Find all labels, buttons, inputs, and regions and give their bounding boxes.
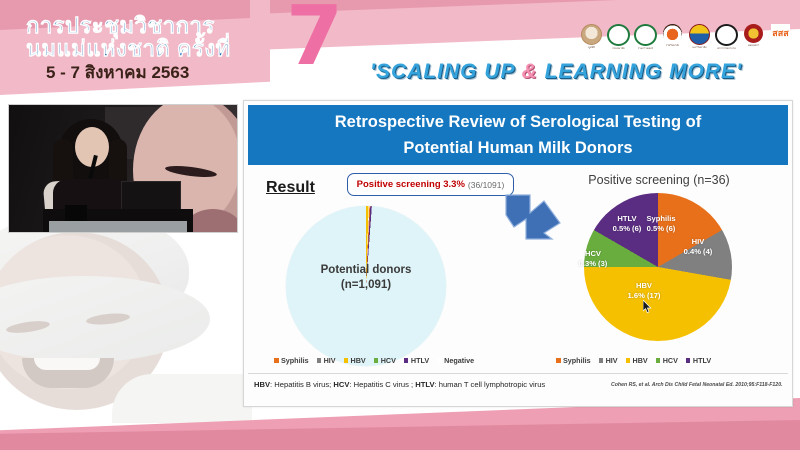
result-heading: Result: [266, 179, 315, 197]
logo-ministry-health-1-icon: กรมอนามัย: [607, 24, 630, 50]
pie-slice-label-hiv: HIV 0.4% (4): [678, 237, 718, 256]
legend-item-htlv: HTLV: [686, 356, 711, 365]
slide-title: Retrospective Review of Serological Test…: [248, 105, 788, 165]
blue-arrow-icon: [504, 193, 562, 241]
legend-label-hcv: HCV: [381, 356, 396, 365]
legend-item-hcv: HCV: [374, 356, 396, 365]
footnote-hcv-key: HCV: [333, 380, 349, 389]
presenter-video-thumbnail[interactable]: [8, 104, 238, 233]
child-body: [112, 374, 252, 423]
logo-mark: [663, 24, 682, 43]
logo-mark: [607, 24, 630, 46]
logo-nursing-council-icon: สภาการพยาบาล: [715, 24, 738, 50]
legend-swatch-htlv: [404, 358, 409, 363]
potential-donors-title: Potential donors: [286, 263, 446, 278]
legend-item-hcv: HCV: [656, 356, 678, 365]
footnote-divider: [248, 373, 788, 374]
logo-thaihealth-icon: สสส: [769, 24, 792, 50]
positive-screening-pie-title: Positive screening (n=36): [544, 173, 774, 187]
legend-label-negative: Negative: [444, 356, 474, 365]
legend-item-hiv: HIV: [599, 356, 618, 365]
logo-mark: [634, 24, 657, 46]
legend-label-syphilis: Syphilis: [563, 356, 591, 365]
slice-name-htlv: HTLV: [606, 214, 648, 224]
legend-swatch-hiv: [317, 358, 322, 363]
logo-mark: [744, 24, 763, 43]
logo-university-icon: มหาวิทยาลัย: [688, 24, 711, 50]
logo-ministry-health-2-icon: กรมการแพทย์: [634, 24, 657, 50]
legend-swatch-hcv: [374, 358, 379, 363]
callout-main-text: Positive screening 3.3%: [357, 179, 465, 190]
legend-label-hiv: HIV: [324, 356, 336, 365]
legend-item-negative: Negative: [437, 356, 474, 365]
slice-name-hiv: HIV: [678, 237, 718, 247]
logo-mark: [581, 24, 602, 45]
legend-swatch-syphilis: [274, 358, 279, 363]
legend-swatch-hbv: [344, 358, 349, 363]
logo-royal-college-icon: ราชวิทยาลัย: [661, 24, 684, 50]
tagline-part2: LEARNING MORE': [538, 60, 742, 83]
slice-value-hbv: 1.6% (17): [620, 291, 668, 301]
logo-caption: มูลนิธิ: [588, 46, 595, 49]
slice-name-hcv: HCV: [574, 249, 612, 259]
screenshot-stage: การประชุมวิชาการ นมแม่แห่งชาติ ครั้งที่ …: [0, 0, 800, 450]
slice-value-hiv: 0.4% (4): [678, 247, 718, 257]
footnote-htlv-def: : human T cell lymphotropic virus: [435, 380, 546, 389]
slide-title-line2: Potential Human Milk Donors: [403, 135, 632, 161]
legend-swatch-hcv: [656, 358, 661, 363]
slice-name-hbv: HBV: [620, 281, 668, 291]
slice-value-htlv: 0.5% (6): [606, 224, 648, 234]
legend-item-hbv: HBV: [626, 356, 648, 365]
logo-caption: มหาวิทยาลัย: [692, 46, 706, 49]
logo-caption: กรมการแพทย์: [638, 47, 654, 50]
legend-label-hcv: HCV: [663, 356, 678, 365]
legend-label-hiv: HIV: [606, 356, 618, 365]
child-teeth: [34, 358, 100, 370]
potential-donors-pie-label: Potential donors (n=1,091): [286, 263, 446, 293]
background-child-photo: [0, 218, 252, 423]
slide-title-line1: Retrospective Review of Serological Test…: [335, 109, 701, 135]
conference-date: 5 - 7 สิงหาคม 2563: [46, 59, 189, 86]
legend-item-syphilis: Syphilis: [274, 356, 309, 365]
footnote-htlv-key: HTLV: [415, 380, 434, 389]
source-citation: Cohen RS, et al. Arch Dis Child Fetal Ne…: [611, 382, 783, 388]
pie-slice-label-hbv: HBV 1.6% (17): [620, 281, 668, 300]
legend-right: Syphilis HIV HBV HCV HTLV: [556, 356, 711, 365]
logo-medical-council-icon: แพทยสภา: [742, 24, 765, 50]
conference-tagline: 'SCALING UP & LEARNING MORE': [370, 60, 742, 84]
legend-swatch-hbv: [626, 358, 631, 363]
sponsor-logo-row: มูลนิธิ กรมอนามัย กรมการแพทย์ ราชวิทยาลั…: [580, 24, 792, 50]
tagline-ampersand: &: [522, 60, 538, 83]
legend-swatch-negative: [437, 358, 442, 363]
logo-mark: สสส: [771, 24, 790, 43]
podium-base: [49, 221, 187, 233]
footnote-hbv-def: : Hepatitis B virus;: [270, 380, 333, 389]
callout-sub-text: (36/1091): [468, 180, 504, 190]
abbreviation-footnote: HBV: Hepatitis B virus; HCV: Hepatitis C…: [254, 380, 545, 389]
presentation-slide: Retrospective Review of Serological Test…: [243, 100, 793, 407]
logo-mark: [715, 24, 738, 46]
legend-label-syphilis: Syphilis: [281, 356, 309, 365]
legend-left: Syphilis HIV HBV HCV HTLV Negative: [274, 356, 474, 365]
potential-donors-n: (n=1,091): [286, 278, 446, 293]
conference-header-banner: การประชุมวิชาการ นมแม่แห่งชาติ ครั้งที่ …: [0, 0, 800, 95]
footnote-hcv-def: : Hepatitis C virus ;: [349, 380, 415, 389]
positive-screening-callout: Positive screening 3.3% (36/1091): [347, 173, 514, 196]
conference-edition-number: 7: [286, 0, 343, 78]
legend-swatch-htlv: [686, 358, 691, 363]
legend-label-htlv: HTLV: [693, 356, 711, 365]
legend-item-syphilis: Syphilis: [556, 356, 591, 365]
footnote-hbv-key: HBV: [254, 380, 270, 389]
legend-swatch-syphilis: [556, 358, 561, 363]
legend-item-hiv: HIV: [317, 356, 336, 365]
tagline-part1: 'SCALING UP: [370, 60, 522, 83]
logo-caption: แพทยสภา: [748, 44, 759, 47]
legend-label-htlv: HTLV: [411, 356, 429, 365]
logo-mark: [689, 24, 710, 45]
slice-value-hcv: 0.3% (3): [574, 259, 612, 269]
logo-caption: สภาการพยาบาล: [717, 47, 736, 50]
logo-foundation-icon: มูลนิธิ: [580, 24, 603, 50]
legend-swatch-hiv: [599, 358, 604, 363]
legend-label-hbv: HBV: [633, 356, 648, 365]
pie-slice-label-hcv: HCV 0.3% (3): [574, 249, 612, 268]
legend-item-hbv: HBV: [344, 356, 366, 365]
legend-item-htlv: HTLV: [404, 356, 429, 365]
logo-caption: กรมอนามัย: [612, 47, 625, 50]
logo-caption: ราชวิทยาลัย: [666, 44, 680, 47]
pie-slice-label-htlv: HTLV 0.5% (6): [606, 214, 648, 233]
legend-label-hbv: HBV: [351, 356, 366, 365]
